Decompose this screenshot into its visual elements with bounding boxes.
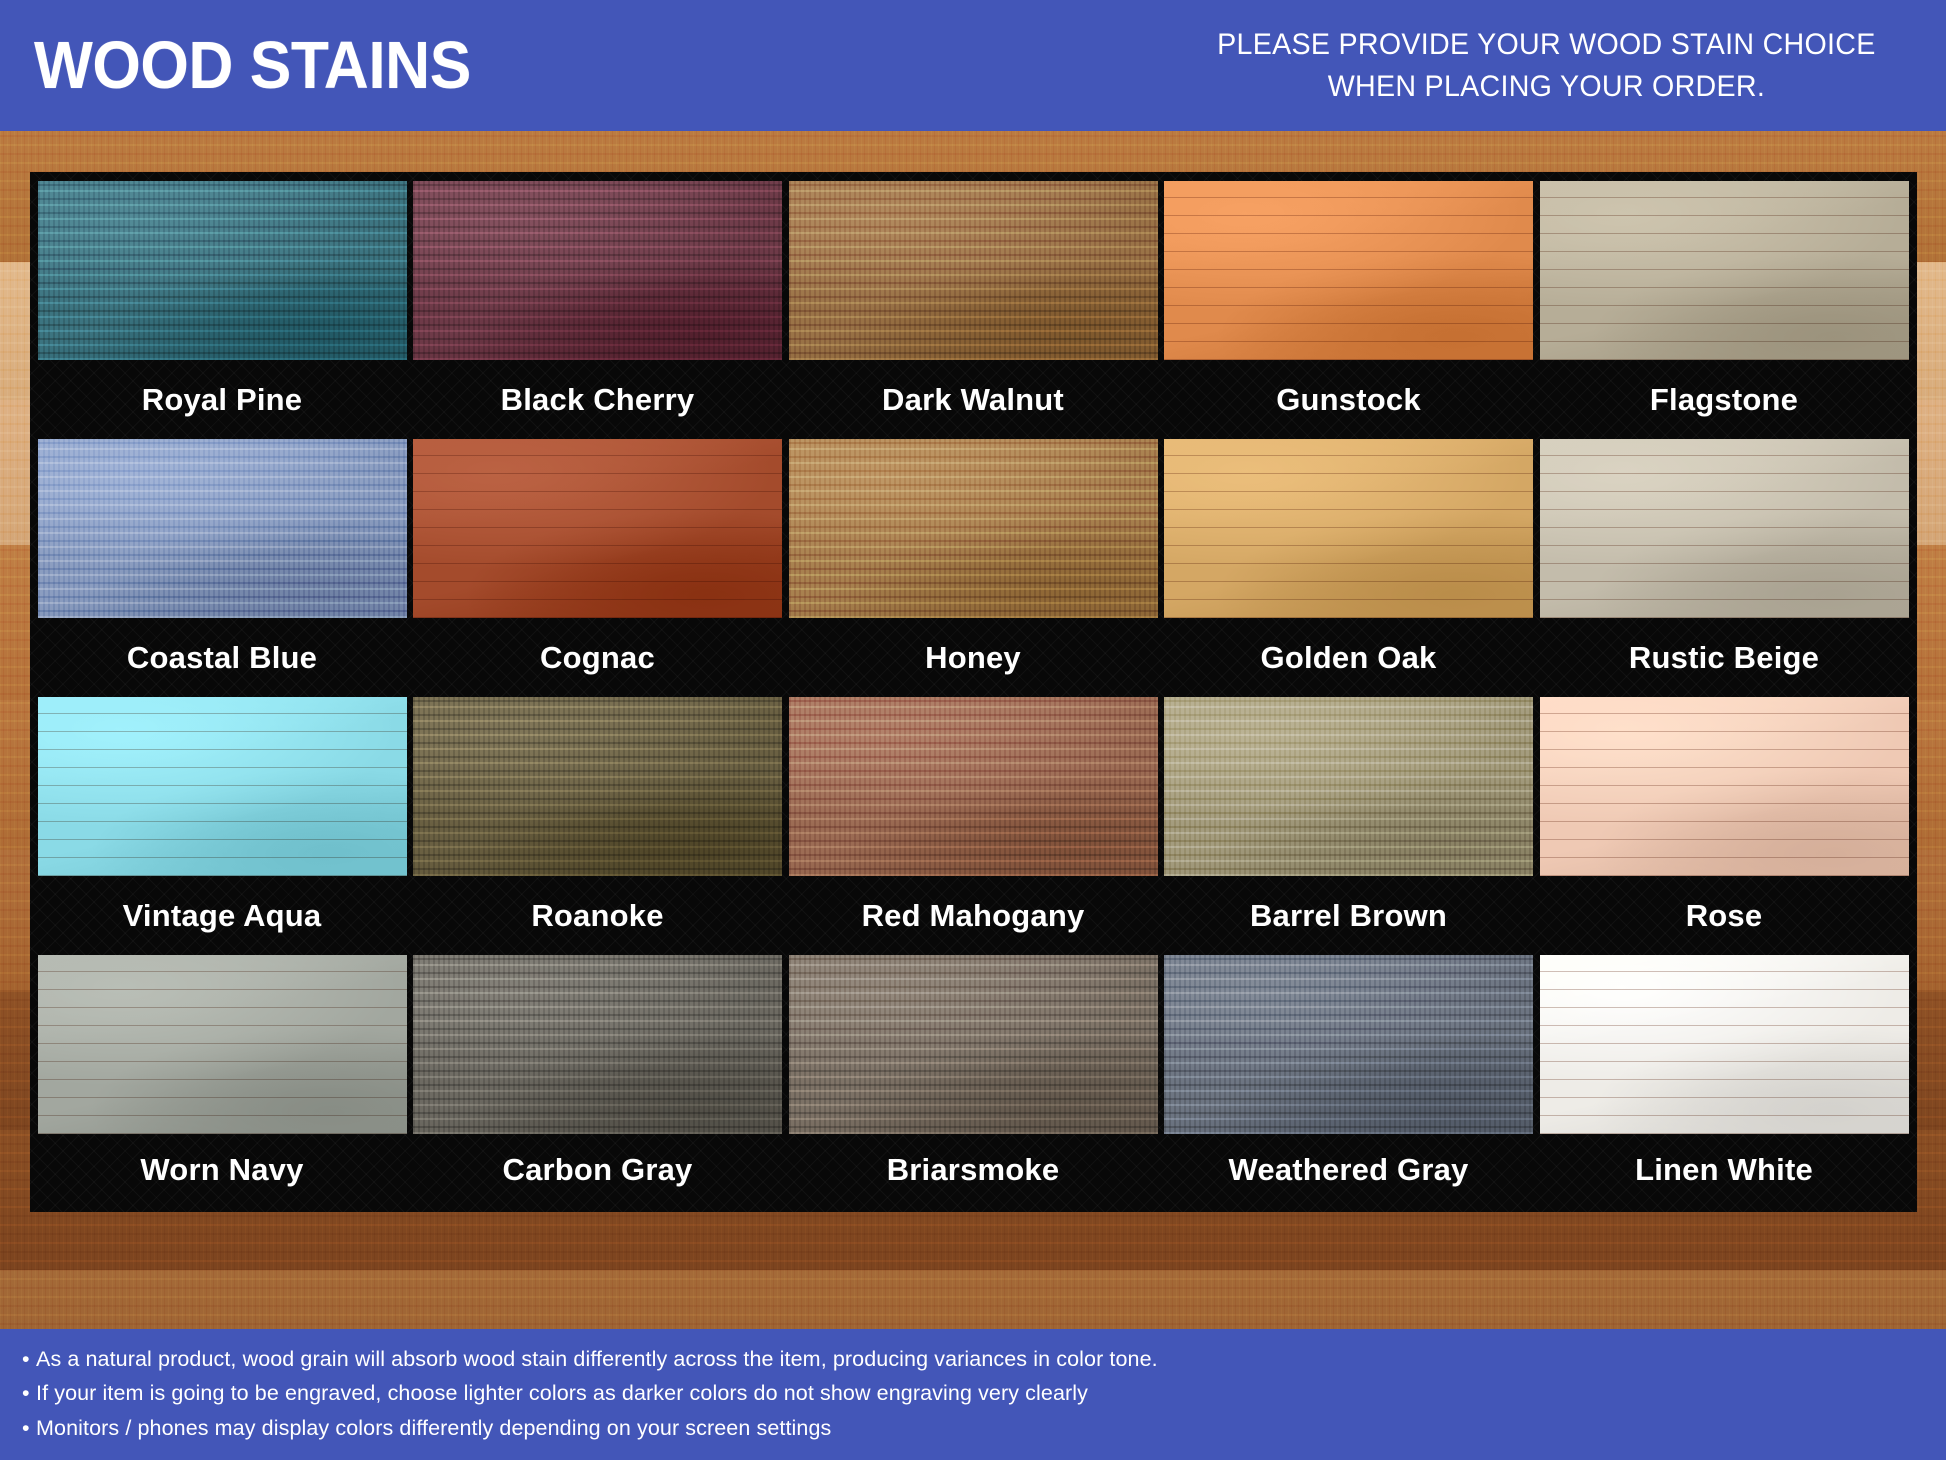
stain-swatch-briarsmoke[interactable] — [789, 955, 1158, 1134]
stain-swatch-rustic-beige[interactable] — [1540, 439, 1909, 618]
stain-label-vintage-aqua: Vintage Aqua — [38, 876, 407, 955]
stain-cell-briarsmoke[interactable]: Briarsmoke — [789, 955, 1158, 1206]
stain-swatch-cognac[interactable] — [413, 439, 782, 618]
stain-swatch-red-mahogany[interactable] — [789, 697, 1158, 876]
stain-label-linen-white: Linen White — [1540, 1134, 1909, 1206]
stain-cell-rustic-beige[interactable]: Rustic Beige — [1540, 439, 1909, 697]
stain-label-red-mahogany: Red Mahogany — [789, 876, 1158, 955]
header-instruction: PLEASE PROVIDE YOUR WOOD STAIN CHOICE WH… — [1217, 24, 1875, 108]
stain-label-rustic-beige: Rustic Beige — [1540, 618, 1909, 697]
stain-row: Coastal Blue Cognac Honey Golden Oak Rus… — [38, 439, 1909, 697]
stain-swatch-worn-navy[interactable] — [38, 955, 407, 1134]
stain-cell-golden-oak[interactable]: Golden Oak — [1164, 439, 1533, 697]
stain-label-coastal-blue: Coastal Blue — [38, 618, 407, 697]
footer-note-list: As a natural product, wood grain will ab… — [0, 1342, 1946, 1446]
chart-stage: Royal Pine Black Cherry Dark Walnut Guns… — [0, 131, 1946, 1329]
stain-cell-red-mahogany[interactable]: Red Mahogany — [789, 697, 1158, 955]
stain-swatch-weathered-gray[interactable] — [1164, 955, 1533, 1134]
stain-cell-honey[interactable]: Honey — [789, 439, 1158, 697]
stain-label-royal-pine: Royal Pine — [38, 360, 407, 439]
wood-stain-chart-page: WOOD STAINS PLEASE PROVIDE YOUR WOOD STA… — [0, 0, 1946, 1460]
page-title: WOOD STAINS — [34, 32, 471, 99]
stain-swatch-rose[interactable] — [1540, 697, 1909, 876]
stain-label-briarsmoke: Briarsmoke — [789, 1134, 1158, 1206]
stain-swatch-roanoke[interactable] — [413, 697, 782, 876]
stain-cell-gunstock[interactable]: Gunstock — [1164, 181, 1533, 439]
stain-swatch-honey[interactable] — [789, 439, 1158, 618]
header-band: WOOD STAINS PLEASE PROVIDE YOUR WOOD STA… — [0, 0, 1946, 131]
stain-swatch-grid: Royal Pine Black Cherry Dark Walnut Guns… — [30, 172, 1917, 1212]
stain-swatch-linen-white[interactable] — [1540, 955, 1909, 1134]
footer-note: Monitors / phones may display colors dif… — [0, 1411, 1946, 1446]
stain-label-roanoke: Roanoke — [413, 876, 782, 955]
stain-swatch-vintage-aqua[interactable] — [38, 697, 407, 876]
footer-note: If your item is going to be engraved, ch… — [0, 1376, 1946, 1411]
stain-label-worn-navy: Worn Navy — [38, 1134, 407, 1206]
stain-cell-roanoke[interactable]: Roanoke — [413, 697, 782, 955]
stain-swatch-black-cherry[interactable] — [413, 181, 782, 360]
stain-cell-cognac[interactable]: Cognac — [413, 439, 782, 697]
stain-swatch-royal-pine[interactable] — [38, 181, 407, 360]
stain-swatch-coastal-blue[interactable] — [38, 439, 407, 618]
stain-cell-vintage-aqua[interactable]: Vintage Aqua — [38, 697, 407, 955]
stain-swatch-gunstock[interactable] — [1164, 181, 1533, 360]
stain-cell-dark-walnut[interactable]: Dark Walnut — [789, 181, 1158, 439]
stain-label-dark-walnut: Dark Walnut — [789, 360, 1158, 439]
footer-band: As a natural product, wood grain will ab… — [0, 1329, 1946, 1460]
stain-label-flagstone: Flagstone — [1540, 360, 1909, 439]
stain-row: Royal Pine Black Cherry Dark Walnut Guns… — [38, 181, 1909, 439]
stain-label-cognac: Cognac — [413, 618, 782, 697]
stain-cell-worn-navy[interactable]: Worn Navy — [38, 955, 407, 1206]
stain-label-honey: Honey — [789, 618, 1158, 697]
stain-swatch-golden-oak[interactable] — [1164, 439, 1533, 618]
stain-cell-flagstone[interactable]: Flagstone — [1540, 181, 1909, 439]
stain-cell-weathered-gray[interactable]: Weathered Gray — [1164, 955, 1533, 1206]
footer-note: As a natural product, wood grain will ab… — [0, 1342, 1946, 1377]
header-instruction-line-1: PLEASE PROVIDE YOUR WOOD STAIN CHOICE — [1217, 24, 1875, 66]
stain-row: Worn Navy Carbon Gray Briarsmoke Weather… — [38, 955, 1909, 1206]
stain-cell-barrel-brown[interactable]: Barrel Brown — [1164, 697, 1533, 955]
stain-swatch-flagstone[interactable] — [1540, 181, 1909, 360]
stain-label-gunstock: Gunstock — [1164, 360, 1533, 439]
stain-cell-linen-white[interactable]: Linen White — [1540, 955, 1909, 1206]
stain-label-weathered-gray: Weathered Gray — [1164, 1134, 1533, 1206]
stain-label-black-cherry: Black Cherry — [413, 360, 782, 439]
stain-swatch-carbon-gray[interactable] — [413, 955, 782, 1134]
stain-cell-royal-pine[interactable]: Royal Pine — [38, 181, 407, 439]
stain-label-barrel-brown: Barrel Brown — [1164, 876, 1533, 955]
header-instruction-line-2: WHEN PLACING YOUR ORDER. — [1217, 66, 1875, 108]
stain-cell-coastal-blue[interactable]: Coastal Blue — [38, 439, 407, 697]
stain-label-rose: Rose — [1540, 876, 1909, 955]
stain-label-carbon-gray: Carbon Gray — [413, 1134, 782, 1206]
stain-row: Vintage Aqua Roanoke Red Mahogany Barrel… — [38, 697, 1909, 955]
stain-cell-rose[interactable]: Rose — [1540, 697, 1909, 955]
stain-label-golden-oak: Golden Oak — [1164, 618, 1533, 697]
stain-swatch-dark-walnut[interactable] — [789, 181, 1158, 360]
stain-cell-carbon-gray[interactable]: Carbon Gray — [413, 955, 782, 1206]
stain-swatch-barrel-brown[interactable] — [1164, 697, 1533, 876]
stain-cell-black-cherry[interactable]: Black Cherry — [413, 181, 782, 439]
